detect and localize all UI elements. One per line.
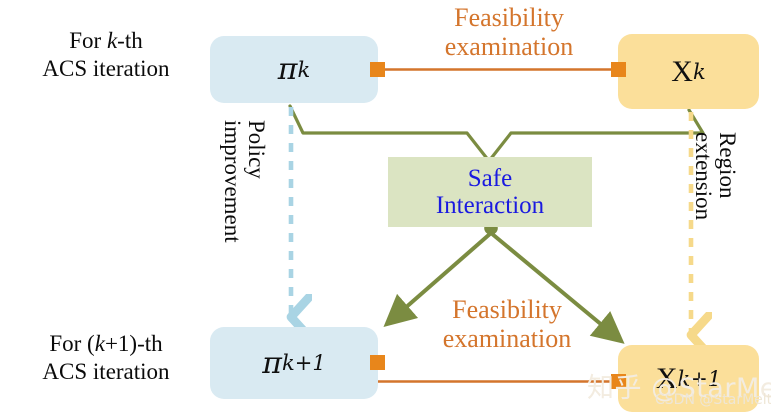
node-policy-k1-subscript: k+1 [282, 351, 326, 375]
caption-bottom-line1: For (k+1)-th [49, 331, 162, 356]
node-policy-k[interactable]: πk [210, 36, 378, 103]
region-extension-line2: extension [691, 132, 715, 220]
connector-square-policy-k-plus-1 [370, 355, 385, 370]
feas-top-line2: examination [445, 32, 574, 61]
connector-square-region-k [611, 62, 626, 77]
caption-top-line2: ACS iteration [42, 56, 169, 81]
bracket-left-to-safe [290, 106, 489, 161]
caption-iteration-k: For k-th ACS iteration [8, 27, 204, 83]
bracket-right-to-safe [489, 110, 703, 161]
safe-interaction-line2: Interaction [436, 192, 544, 219]
node-region-k-symbol: X [671, 55, 693, 89]
policy-improvement-line1: Policy [244, 120, 268, 243]
node-safe-interaction[interactable]: Safe Interaction [388, 157, 592, 227]
caption-iteration-k-plus-1: For (k+1)-th ACS iteration [2, 330, 210, 386]
diagram-canvas: For k-th ACS iteration For (k+1)-th ACS … [0, 0, 771, 412]
region-extension-line1: Region [715, 132, 739, 220]
feas-bottom-line2: examination [443, 324, 572, 353]
label-feasibility-examination-top: Feasibility examination [404, 3, 614, 61]
watermark-secondary: CSDN @StarMelt [655, 392, 771, 408]
label-policy-improvement: Policy improvement [220, 120, 268, 243]
label-region-extension: Region extension [691, 132, 739, 220]
node-policy-k-symbol: π [278, 52, 298, 87]
feas-bottom-line1: Feasibility [452, 295, 562, 324]
feas-top-line1: Feasibility [454, 3, 564, 32]
node-region-k[interactable]: Xk [618, 34, 759, 109]
policy-improvement-line2: improvement [220, 120, 244, 243]
label-feasibility-examination-bottom: Feasibility examination [402, 295, 612, 353]
node-policy-k-plus-1[interactable]: πk+1 [210, 327, 378, 399]
node-policy-k-subscript: k [297, 58, 310, 82]
node-region-k-subscript: k [693, 60, 706, 84]
caption-bottom-line2: ACS iteration [42, 359, 169, 384]
caption-top-line1: For k-th [69, 28, 142, 53]
node-policy-k1-symbol: π [262, 346, 282, 381]
connector-square-policy-k [370, 62, 385, 77]
safe-interaction-line1: Safe [468, 165, 512, 192]
